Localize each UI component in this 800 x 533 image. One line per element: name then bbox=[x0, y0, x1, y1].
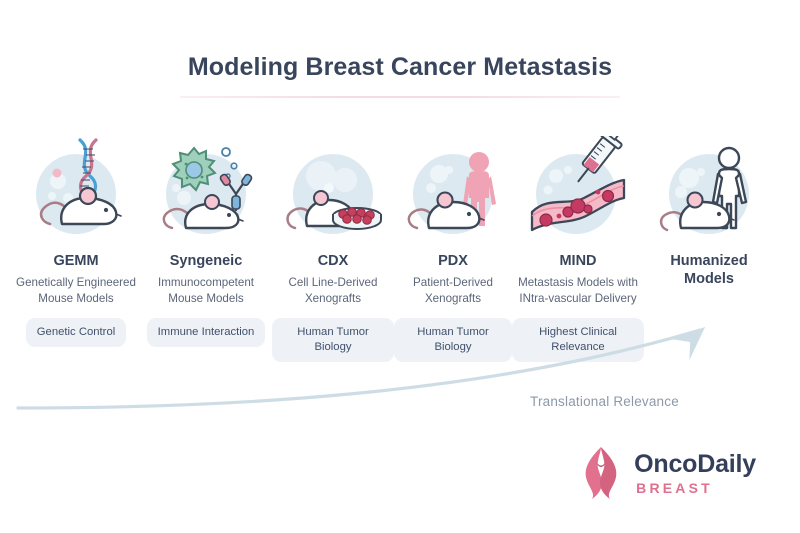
mouse-patient-icon bbox=[401, 136, 505, 240]
page-title-wrap: Modeling Breast Cancer Metastasis bbox=[0, 52, 800, 82]
infographic-canvas: Modeling Breast Cancer Metastasis bbox=[0, 0, 800, 533]
logo-secondary: BREAST bbox=[636, 481, 756, 495]
model-title: PDX bbox=[438, 252, 468, 270]
translational-relevance-arrow bbox=[0, 280, 800, 430]
syringe-blood-vessel-icon bbox=[526, 136, 630, 240]
mouse-human-figure-icon bbox=[657, 136, 761, 240]
dna-mouse-icon bbox=[24, 136, 128, 240]
model-title: GEMM bbox=[53, 252, 98, 270]
mouse-petri-dish-icon bbox=[281, 136, 385, 240]
title-divider bbox=[180, 96, 620, 98]
model-title: Syngeneic bbox=[170, 252, 243, 270]
page-title: Modeling Breast Cancer Metastasis bbox=[0, 52, 800, 82]
pink-ribbon-icon bbox=[578, 445, 624, 501]
arrow-label: Translational Relevance bbox=[530, 394, 679, 409]
model-title: MIND bbox=[559, 252, 596, 270]
immune-cell-antibody-mouse-icon bbox=[154, 136, 258, 240]
oncodaily-breast-logo[interactable]: OncoDaily BREAST bbox=[578, 445, 756, 501]
logo-primary: OncoDaily bbox=[634, 452, 756, 477]
logo-text: OncoDaily BREAST bbox=[634, 452, 756, 495]
model-title: CDX bbox=[318, 252, 349, 270]
